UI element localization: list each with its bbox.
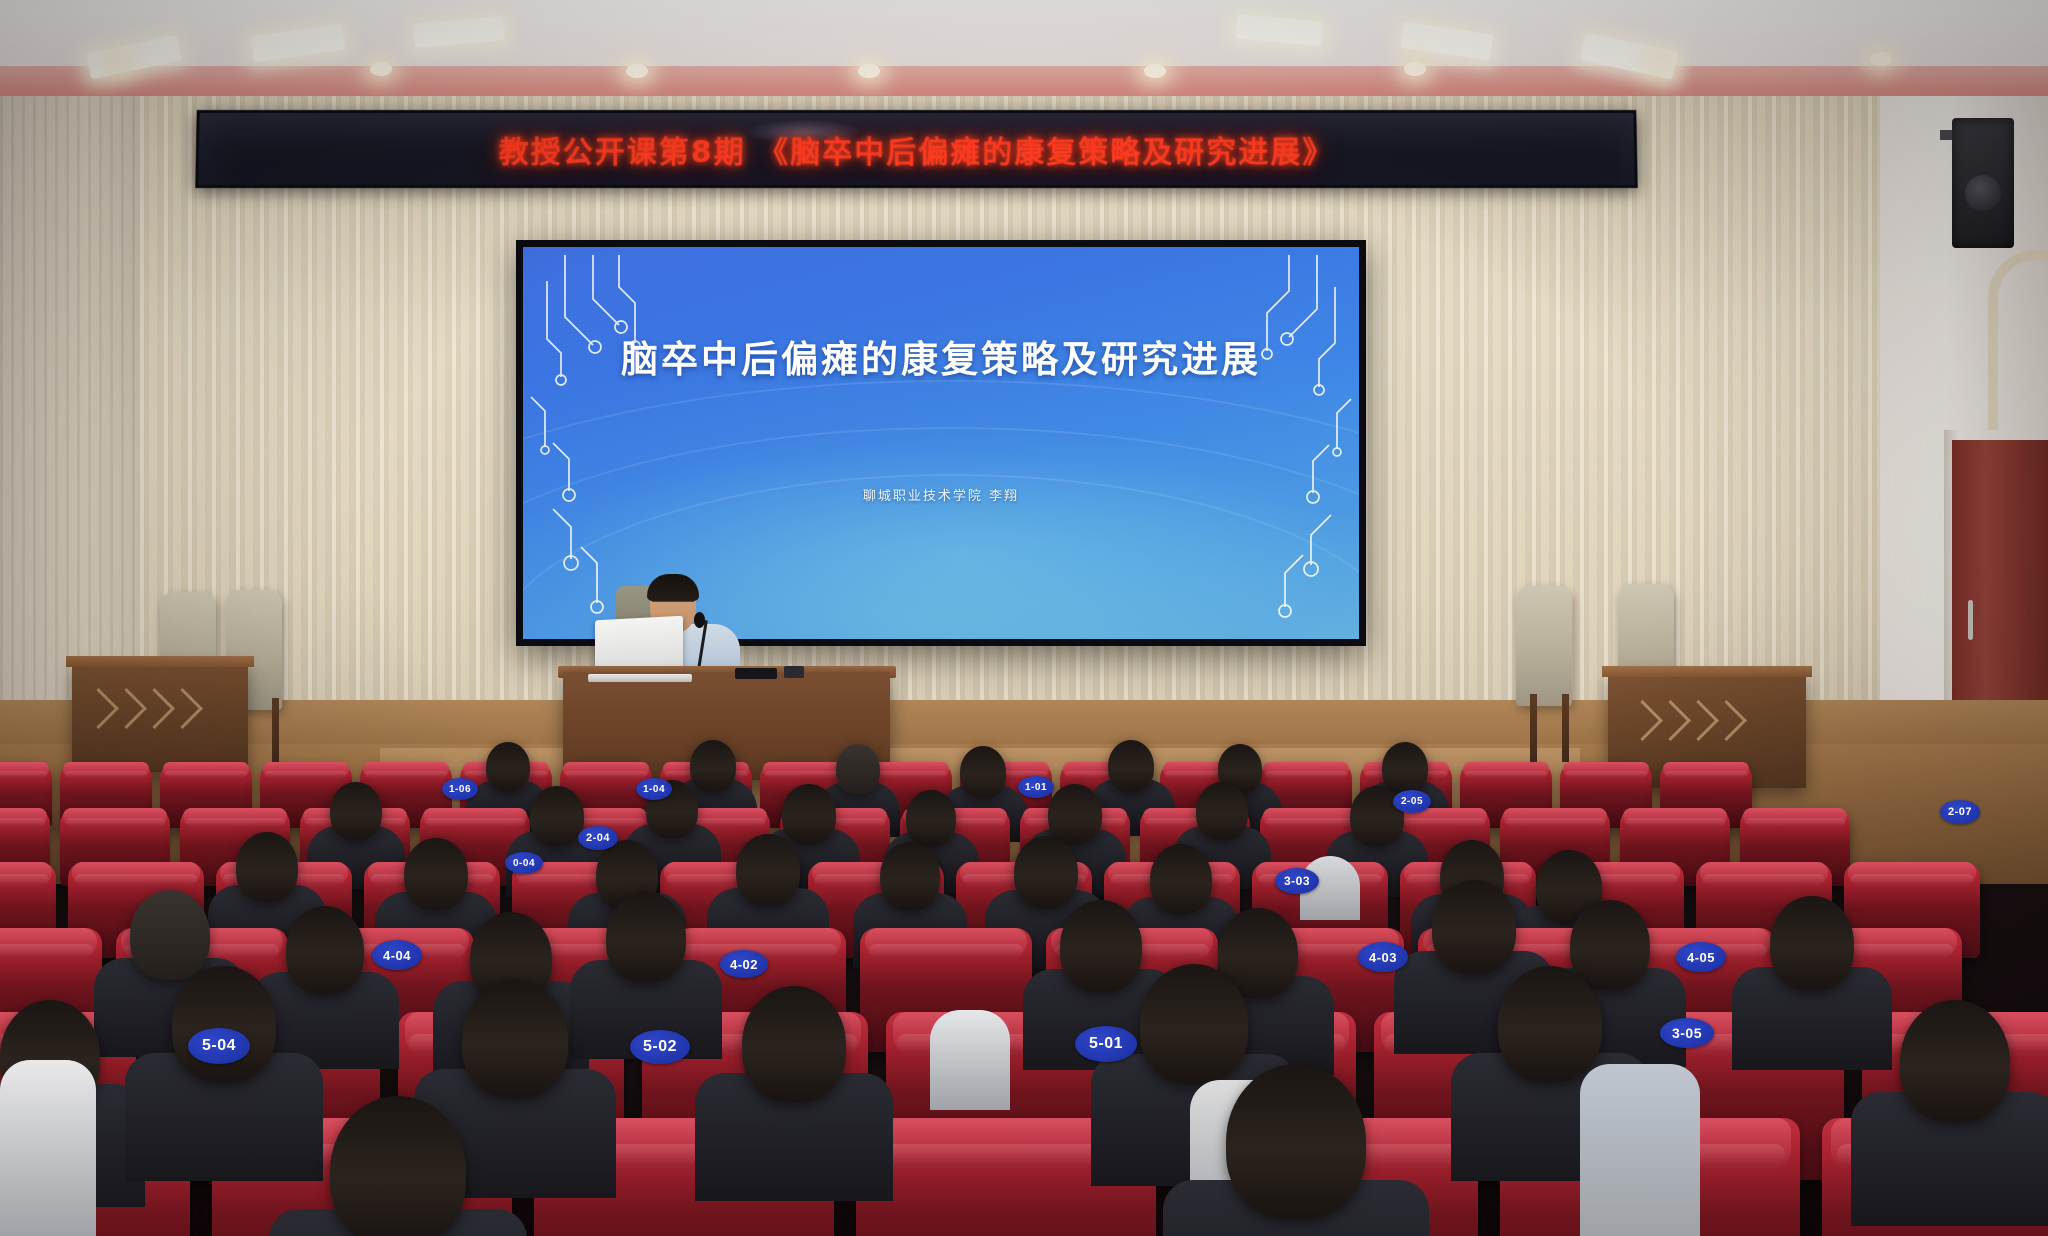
- audience-member-head: [1014, 836, 1078, 908]
- audience-member-head: [1498, 966, 1602, 1082]
- wall-arch-decoration: [1988, 250, 2048, 430]
- audience-member-shirt: [930, 1010, 1010, 1110]
- audience-member-head: [782, 784, 836, 844]
- audience-member-head: [1382, 742, 1428, 794]
- seat-headrest: [363, 762, 449, 779]
- seat-number-tag: 3-05: [1660, 1018, 1714, 1048]
- door-handle-icon[interactable]: [1968, 600, 1973, 640]
- glasses-icon: [652, 600, 694, 611]
- seat-headrest: [1700, 862, 1828, 887]
- audience-member-head: [1432, 880, 1516, 974]
- ceiling-downlight: [1648, 58, 1670, 72]
- audience-member-head: [462, 980, 568, 1098]
- seat-headrest: [563, 762, 649, 779]
- ceiling-downlight: [626, 64, 648, 78]
- seat-headrest: [0, 862, 52, 887]
- audience-member-head: [1108, 740, 1154, 792]
- seat-headrest: [865, 928, 1027, 960]
- audience-member-head: [1150, 844, 1212, 914]
- ceiling-downlight: [370, 62, 392, 76]
- audience-member-head: [1570, 900, 1650, 990]
- seat-number-tag: 1-04: [636, 778, 672, 800]
- side-chair-leg: [1530, 694, 1537, 762]
- audience-member-head: [330, 782, 382, 840]
- seat-number-tag: 2-04: [578, 826, 618, 850]
- seat-number-tag: 5-01: [1075, 1026, 1137, 1062]
- ceiling-downlight: [1870, 52, 1892, 66]
- seat-headrest: [1623, 808, 1726, 828]
- audience-member-head: [1900, 1000, 2010, 1122]
- audience-member-head: [1226, 1064, 1366, 1219]
- audience-member-head: [1140, 964, 1248, 1084]
- seat-headrest: [1848, 862, 1976, 887]
- microphone-icon[interactable]: [694, 612, 705, 628]
- audience-member-head: [836, 744, 880, 794]
- audience-member-head: [736, 834, 800, 906]
- seat-number-tag: 1-01: [1018, 776, 1054, 798]
- slide-title: 脑卒中后偏瘫的康复策略及研究进展: [523, 329, 1359, 383]
- audience-member-head: [1770, 896, 1854, 990]
- audience-member-head: [1060, 900, 1142, 992]
- seat-number-tag: 4-02: [720, 950, 768, 978]
- banner-title-text: 教授公开课第8期 《脑卒中后偏瘫的康复策略及研究进展》: [198, 113, 1634, 185]
- audience-member-head: [906, 790, 956, 846]
- seat-headrest: [1663, 762, 1749, 779]
- audience-member-shirt: [1580, 1064, 1700, 1236]
- seat-headrest: [1263, 762, 1349, 779]
- seat-number-tag: 5-02: [630, 1030, 690, 1064]
- seat-headrest: [0, 762, 49, 779]
- lecture-hall-photo: 教授公开课第8期 《脑卒中后偏瘫的康复策略及研究进展》: [0, 0, 2048, 1236]
- seat-headrest: [0, 928, 97, 960]
- laptop-base: [588, 674, 692, 682]
- side-desk-right-top: [1602, 666, 1812, 677]
- audience-member-head: [486, 742, 530, 792]
- seat-headrest: [0, 808, 47, 828]
- audience-member-head: [530, 786, 584, 846]
- led-banner: 教授公开课第8期 《脑卒中后偏瘫的康复策略及研究进展》: [195, 110, 1638, 188]
- audience-member-head: [330, 1096, 466, 1236]
- ceiling-downlight: [858, 64, 880, 78]
- seat-headrest: [183, 808, 286, 828]
- side-chair-leg: [1562, 694, 1569, 762]
- seat-number-tag: 4-04: [372, 940, 422, 970]
- audience-member-head: [690, 740, 736, 792]
- audience-member-head: [1048, 784, 1102, 844]
- slide-subtitle: 聊城职业技术学院 李翔: [523, 485, 1359, 504]
- seat-number-tag: 5-04: [188, 1028, 250, 1064]
- seat-number-tag: 2-07: [1940, 800, 1980, 824]
- audience-member-head: [172, 966, 276, 1082]
- seat-headrest: [72, 862, 200, 887]
- speaker-cone-icon: [1965, 175, 2001, 211]
- ceiling-downlight: [1404, 62, 1426, 76]
- audience-member-shirt: [0, 1060, 96, 1236]
- seat-number-tag: 3-03: [1275, 868, 1319, 894]
- side-desk-left-top: [66, 656, 254, 667]
- seat-number-tag: 1-06: [442, 778, 478, 800]
- seat-headrest: [1503, 808, 1606, 828]
- seat-number-tag: 2-05: [1393, 790, 1431, 813]
- audience-member-head: [606, 892, 686, 982]
- seat-headrest: [423, 808, 526, 828]
- circuit-decoration-icon: [523, 247, 1359, 639]
- audience-member-head: [742, 986, 846, 1102]
- seat-number-tag: 0-04: [505, 852, 543, 874]
- audience-member-head: [130, 890, 210, 980]
- seat-headrest: [163, 762, 249, 779]
- seat-headrest: [63, 762, 149, 779]
- desk-remote[interactable]: [735, 668, 777, 679]
- audience-member-head: [404, 838, 468, 910]
- audience-member-head: [880, 842, 940, 910]
- desk-item[interactable]: [784, 666, 804, 678]
- side-chair-right-1[interactable]: [1516, 586, 1572, 706]
- seat-headrest: [263, 762, 349, 779]
- audience-member-head: [960, 746, 1006, 798]
- side-chair-leg: [272, 698, 279, 766]
- ceiling-downlight: [108, 58, 130, 72]
- seat-number-tag: 4-03: [1358, 942, 1408, 972]
- projection-screen: 脑卒中后偏瘫的康复策略及研究进展 聊城职业技术学院 李翔: [523, 247, 1359, 639]
- ceiling-downlight: [1144, 64, 1166, 78]
- audience-member-head: [236, 832, 298, 902]
- seat-headrest: [1463, 762, 1549, 779]
- seat-headrest: [1743, 808, 1846, 828]
- seat-headrest: [63, 808, 166, 828]
- seat-number-tag: 4-05: [1676, 942, 1726, 972]
- audience-member-head: [286, 906, 364, 994]
- audience-member-head: [1196, 782, 1248, 840]
- seat-headrest: [1563, 762, 1649, 779]
